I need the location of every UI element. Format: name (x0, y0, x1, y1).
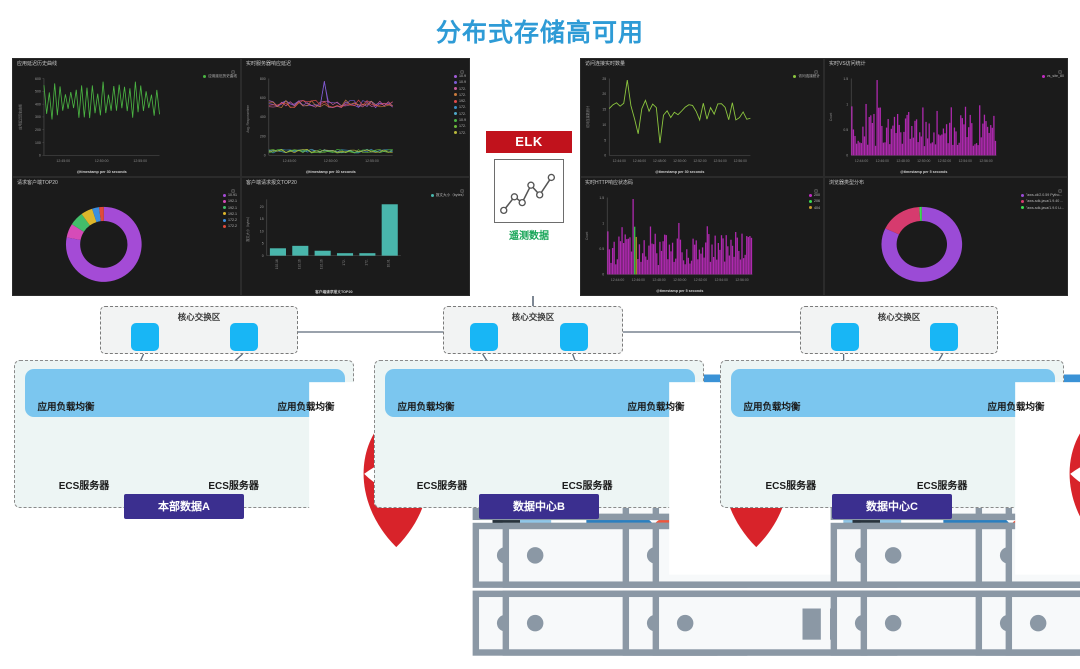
svg-text:@timestamp per 5 seconds: @timestamp per 5 seconds (656, 289, 703, 293)
legend-label: 报文大小（bytes） (436, 193, 466, 197)
svg-text:@timestamp per 30 seconds: @timestamp per 30 seconds (655, 170, 704, 174)
panel-plot (13, 190, 240, 295)
legend-label: 172.2 (228, 218, 237, 222)
svg-text:12:50:00: 12:50:00 (673, 159, 686, 163)
line-chart-icon (494, 159, 564, 223)
gear-icon[interactable] (230, 181, 236, 187)
core-switch-zone: 核心交换区 (443, 306, 623, 354)
ecs-server-icon[interactable] (792, 449, 848, 473)
panel-title: 实时VS访问统计 (825, 59, 1067, 68)
dashboard-panel[interactable]: 实时VS访问统计 00.511.512:44:0012:46:0012:48:0… (824, 58, 1068, 177)
core-switch-icon[interactable] (230, 323, 258, 351)
svg-text:15: 15 (260, 217, 264, 221)
datacenter-zone: 应用负载均衡 应用负载均衡 (374, 360, 704, 508)
svg-text:800: 800 (260, 77, 266, 81)
load-balancer-icon[interactable] (35, 373, 93, 397)
legend-item[interactable]: 172. (454, 130, 466, 136)
ecs-server-icon[interactable] (443, 449, 499, 473)
elk-caption: 遥测数据 (486, 227, 572, 242)
datacenter-tag: 数据中心C (832, 494, 952, 519)
core-switch-zone: 核心交换区 (100, 306, 298, 354)
elk-label: ELK (486, 131, 572, 153)
ecs-server-icon[interactable] (85, 449, 141, 473)
svg-text:12:46:00: 12:46:00 (876, 159, 889, 163)
svg-text:12:46:00: 12:46:00 (632, 278, 645, 282)
chart-legend: 10.91192.1192.1192.1172.2172.2 (223, 192, 237, 230)
legend-item[interactable]: 10.9 (454, 79, 466, 85)
legend-label: 206 (814, 199, 820, 203)
ecs-server-icon[interactable] (235, 449, 291, 473)
gear-icon[interactable] (459, 62, 465, 68)
legend-label: 10.91 (228, 193, 237, 197)
panel-plot: 0 100 200 300 400 500 600 12:45:0012:50:… (13, 71, 240, 176)
aggregation-switch-icon[interactable] (213, 368, 239, 402)
panel-plot: 00.511.512:44:0012:46:0012:48:0012:50:00… (581, 190, 823, 295)
svg-text:12:55:00: 12:55:00 (365, 159, 379, 163)
svg-text:300: 300 (35, 115, 41, 119)
load-balancer-label: 应用负载均衡 (389, 399, 463, 413)
svg-text:12:50:00: 12:50:00 (95, 159, 109, 163)
gear-icon[interactable] (1057, 181, 1063, 187)
svg-text:客户端请求报文TOP20: 客户端请求报文TOP20 (314, 289, 353, 294)
svg-text:5: 5 (262, 242, 264, 246)
svg-text:12:50:00: 12:50:00 (917, 159, 930, 163)
chart-legend: 报文大小（bytes） (431, 192, 466, 198)
svg-text:应用延迟历史曲线: 应用延迟历史曲线 (17, 104, 22, 130)
dashboard-panel[interactable]: 应用延迟历史曲线 0 100 200 300 400 500 600 12:45… (12, 58, 241, 177)
aggregation-switch-icon[interactable] (481, 368, 507, 402)
svg-text:12:48:00: 12:48:00 (652, 278, 665, 282)
svg-text:400: 400 (35, 103, 41, 107)
panel-title: 应用延迟历史曲线 (13, 59, 240, 68)
svg-text:12:54:00: 12:54:00 (713, 159, 726, 163)
ecs-server-label: ECS服务器 (546, 477, 628, 492)
elk-node: ELK 遥测数据 (486, 131, 572, 242)
legend-item[interactable]: 172. (454, 104, 466, 110)
dashboard-panel[interactable]: 实时HTTP响应状态码 00.511.512:44:0012:46:0012:4… (580, 177, 824, 296)
dashboard-panel[interactable]: 浏览器类型分布 "aws-cli/2.0.59 Pytho..."aws-sdk… (824, 177, 1068, 296)
panel-plot: 05101520192.16192.16192.16172.172.10.91 … (242, 190, 469, 295)
svg-text:12:48:00: 12:48:00 (653, 159, 666, 163)
dashboard-left: 应用延迟历史曲线 0 100 200 300 400 500 600 12:45… (12, 58, 470, 296)
panel-title: 浏览器类型分布 (825, 178, 1067, 187)
panel-plot: 00.511.512:44:0012:46:0012:48:0012:50:00… (825, 71, 1067, 176)
dashboard-panel[interactable]: 请求客户端TOP20 10.91192.1192.1192.1172.2172.… (12, 177, 241, 296)
svg-text:12:56:00: 12:56:00 (734, 159, 747, 163)
svg-text:12:50:00: 12:50:00 (324, 159, 338, 163)
legend-label: 172. (459, 93, 466, 97)
svg-text:12:46:00: 12:46:00 (633, 159, 646, 163)
svg-text:192.16: 192.16 (297, 259, 301, 269)
svg-text:1.5: 1.5 (599, 196, 604, 200)
legend-label: 访问连接统计 (798, 74, 820, 78)
svg-text:600: 600 (35, 77, 41, 81)
legend-item[interactable]: "aws-sdk-java/1.9.0 Li... (1021, 205, 1064, 211)
load-balancer-label: 应用负载均衡 (735, 399, 809, 413)
svg-text:12:52:00: 12:52:00 (938, 159, 951, 163)
legend-item[interactable]: 172.2 (223, 223, 237, 229)
svg-text:12:45:00: 12:45:00 (56, 159, 70, 163)
svg-text:10: 10 (260, 230, 264, 234)
svg-text:1: 1 (846, 103, 848, 107)
legend-label: 172. (459, 112, 466, 116)
svg-text:25: 25 (602, 77, 606, 81)
svg-text:12:55:00: 12:55:00 (133, 159, 147, 163)
core-switch-icon[interactable] (831, 323, 859, 351)
core-zone-label: 核心交换区 (444, 311, 622, 323)
legend-label: 10.9 (459, 80, 466, 84)
svg-text:0: 0 (262, 254, 264, 258)
load-balancer-icon[interactable] (395, 373, 453, 397)
core-switch-icon[interactable] (930, 323, 958, 351)
svg-text:100: 100 (35, 141, 41, 145)
legend-item[interactable]: 172. (454, 123, 466, 129)
core-switch-zone: 核心交换区 (800, 306, 998, 354)
chart-legend: 10.910.9172.172.192.172.172.10.9172.172. (454, 73, 466, 136)
legend-label: "aws-sdk-java/1.9.40 ... (1026, 199, 1063, 203)
core-zone-label: 核心交换区 (801, 311, 997, 323)
svg-text:Count: Count (829, 113, 833, 122)
ecs-server-label: ECS服务器 (901, 477, 983, 492)
svg-text:12:50:00: 12:50:00 (673, 278, 686, 282)
chart-legend: 访问连接统计 (793, 73, 820, 79)
svg-text:0.5: 0.5 (599, 247, 604, 251)
panel-plot: 020040060080012:45:0012:50:0012:55:00 @t… (242, 71, 469, 176)
load-balancer-icon[interactable] (741, 373, 799, 397)
svg-text:12:54:00: 12:54:00 (715, 278, 728, 282)
legend-label: "aws-cli/2.0.59 Pytho... (1026, 193, 1062, 197)
gear-icon[interactable] (459, 181, 465, 187)
svg-text:12:56:00: 12:56:00 (735, 278, 748, 282)
legend-item[interactable]: 192.1 (223, 198, 237, 204)
panel-title: 客户端请求报文TOP20 (242, 178, 469, 187)
panel-title: 实时HTTP响应状态码 (581, 178, 823, 187)
legend-label: 200 (814, 193, 820, 197)
ecs-server-label: ECS服务器 (193, 477, 275, 492)
svg-text:12:48:00: 12:48:00 (896, 159, 909, 163)
core-switch-icon[interactable] (470, 323, 498, 351)
svg-text:500: 500 (35, 90, 41, 94)
svg-text:0: 0 (602, 273, 604, 277)
datacenter-tag: 本部数据A (124, 494, 244, 519)
dashboard-right: 访问连接实时数量 051015202512:44:0012:46:0012:48… (580, 58, 1068, 296)
legend-item[interactable]: 404 (809, 205, 820, 211)
chart-legend: vs_site_80 (1042, 73, 1064, 79)
legend-label: 172. (459, 131, 466, 135)
legend-item[interactable]: vs_site_80 (1042, 73, 1064, 79)
svg-text:Avg. Responsetime: Avg. Responsetime (246, 105, 250, 133)
legend-item[interactable]: 应用延迟历史曲线 (203, 73, 237, 79)
svg-text:12:44:00: 12:44:00 (613, 159, 626, 163)
datacenter-zone: 应用负载均衡 应用负载均衡 (720, 360, 1064, 508)
chart-legend: 200206404 (809, 192, 820, 211)
svg-text:200: 200 (260, 135, 266, 139)
svg-text:12:44:00: 12:44:00 (855, 159, 868, 163)
svg-text:0: 0 (604, 154, 606, 158)
panel-title: 访问连接实时数量 (581, 59, 823, 68)
svg-text:12:52:00: 12:52:00 (693, 159, 706, 163)
dashboard-panel[interactable]: 访问连接实时数量 051015202512:44:0012:46:0012:48… (580, 58, 824, 177)
svg-text:400: 400 (260, 115, 266, 119)
legend-label: 10.9 (459, 118, 466, 122)
panel-title: 请求客户端TOP20 (13, 178, 240, 187)
legend-item[interactable]: "aws-sdk-java/1.9.40 ... (1021, 198, 1064, 204)
legend-label: "aws-sdk-java/1.9.0 Li... (1026, 206, 1064, 210)
ecs-server-icon[interactable] (588, 449, 644, 473)
svg-text:0: 0 (264, 154, 266, 158)
legend-item[interactable]: 206 (809, 198, 820, 204)
chart-legend: 应用延迟历史曲线 (203, 73, 237, 79)
ecs-server-label: ECS服务器 (43, 477, 125, 492)
legend-label: 192.1 (228, 206, 237, 210)
gear-icon[interactable] (1057, 62, 1063, 68)
datacenter-zone: 应用负载均衡 应用负载均衡 (14, 360, 354, 508)
core-switch-icon[interactable] (560, 323, 588, 351)
aggregation-switch-icon[interactable] (567, 368, 593, 402)
datacenter-tag: 数据中心B (479, 494, 599, 519)
legend-label: 404 (814, 206, 820, 210)
svg-text:600: 600 (260, 96, 266, 100)
svg-text:12:45:00: 12:45:00 (283, 159, 297, 163)
ecs-server-icon[interactable] (943, 449, 999, 473)
svg-text:@timestamp per 5 seconds: @timestamp per 5 seconds (900, 170, 947, 174)
svg-text:15: 15 (602, 108, 606, 112)
svg-text:5: 5 (604, 138, 606, 142)
panel-title: 实时服务器响应延迟 (242, 59, 469, 68)
svg-text:20: 20 (260, 205, 264, 209)
chart-legend: "aws-cli/2.0.59 Pytho..."aws-sdk-java/1.… (1021, 192, 1064, 211)
legend-item[interactable]: 访问连接统计 (793, 73, 820, 79)
svg-text:1.5: 1.5 (843, 77, 848, 81)
aggregation-switch-icon[interactable] (832, 368, 858, 402)
svg-text:172.: 172. (342, 259, 346, 265)
core-switch-icon[interactable] (131, 323, 159, 351)
legend-item[interactable]: 192.1 (223, 205, 237, 211)
aggregation-switch-icon[interactable] (921, 368, 947, 402)
legend-item[interactable]: 172. (454, 86, 466, 92)
svg-text:12:56:00: 12:56:00 (979, 159, 992, 163)
svg-text:0: 0 (846, 154, 848, 158)
svg-text:192.16: 192.16 (275, 259, 279, 269)
ecs-server-label: ECS服务器 (401, 477, 483, 492)
page-title: 分布式存储高可用 (0, 13, 1080, 49)
svg-text:报文大小（bytes）: 报文大小（bytes） (245, 215, 250, 242)
svg-text:192.16: 192.16 (320, 259, 324, 269)
legend-label: vs_site_80 (1047, 74, 1064, 78)
svg-text:访问连接数统计: 访问连接数统计 (585, 105, 590, 128)
svg-text:@timestamp per 30 seconds: @timestamp per 30 seconds (77, 170, 127, 174)
svg-text:10: 10 (602, 123, 606, 127)
panel-plot: 051015202512:44:0012:46:0012:48:0012:50:… (581, 71, 823, 176)
load-balancer-label: 应用负载均衡 (29, 399, 103, 413)
legend-label: 192.1 (228, 199, 237, 203)
legend-label: 172. (459, 105, 466, 109)
svg-text:200: 200 (35, 128, 41, 132)
gear-icon[interactable] (230, 62, 236, 68)
gear-icon[interactable] (813, 62, 819, 68)
legend-label: 172.2 (228, 224, 237, 228)
legend-label: 应用延迟历史曲线 (208, 74, 237, 78)
svg-text:Count: Count (585, 232, 589, 241)
legend-label: 192.1 (228, 212, 237, 216)
core-zone-label: 核心交换区 (101, 311, 297, 323)
legend-item[interactable]: 报文大小（bytes） (431, 192, 466, 198)
svg-text:0.5: 0.5 (843, 128, 848, 132)
legend-label: 172. (459, 87, 466, 91)
svg-text:0: 0 (39, 154, 41, 158)
ecs-server-label: ECS服务器 (750, 477, 832, 492)
svg-text:12:54:00: 12:54:00 (959, 159, 972, 163)
svg-text:1: 1 (602, 222, 604, 226)
dashboard-panel[interactable]: 实时服务器响应延迟 020040060080012:45:0012:50:001… (241, 58, 470, 177)
dashboard-panel[interactable]: 客户端请求报文TOP20 05101520192.16192.16192.161… (241, 177, 470, 296)
legend-label: 172. (459, 124, 466, 128)
svg-text:20: 20 (602, 92, 606, 96)
aggregation-switch-icon[interactable] (124, 368, 150, 402)
svg-text:@timestamp per 30 seconds: @timestamp per 30 seconds (306, 170, 356, 174)
network-diagram: 核心交换区 核心交换区 (0, 296, 1080, 516)
svg-text:172.: 172. (364, 259, 368, 265)
svg-text:12:52:00: 12:52:00 (694, 278, 707, 282)
legend-label: 10.9 (459, 74, 466, 78)
svg-text:12:44:00: 12:44:00 (611, 278, 624, 282)
legend-label: 192. (459, 99, 466, 103)
gear-icon[interactable] (813, 181, 819, 187)
svg-text:10.91: 10.91 (387, 259, 391, 267)
